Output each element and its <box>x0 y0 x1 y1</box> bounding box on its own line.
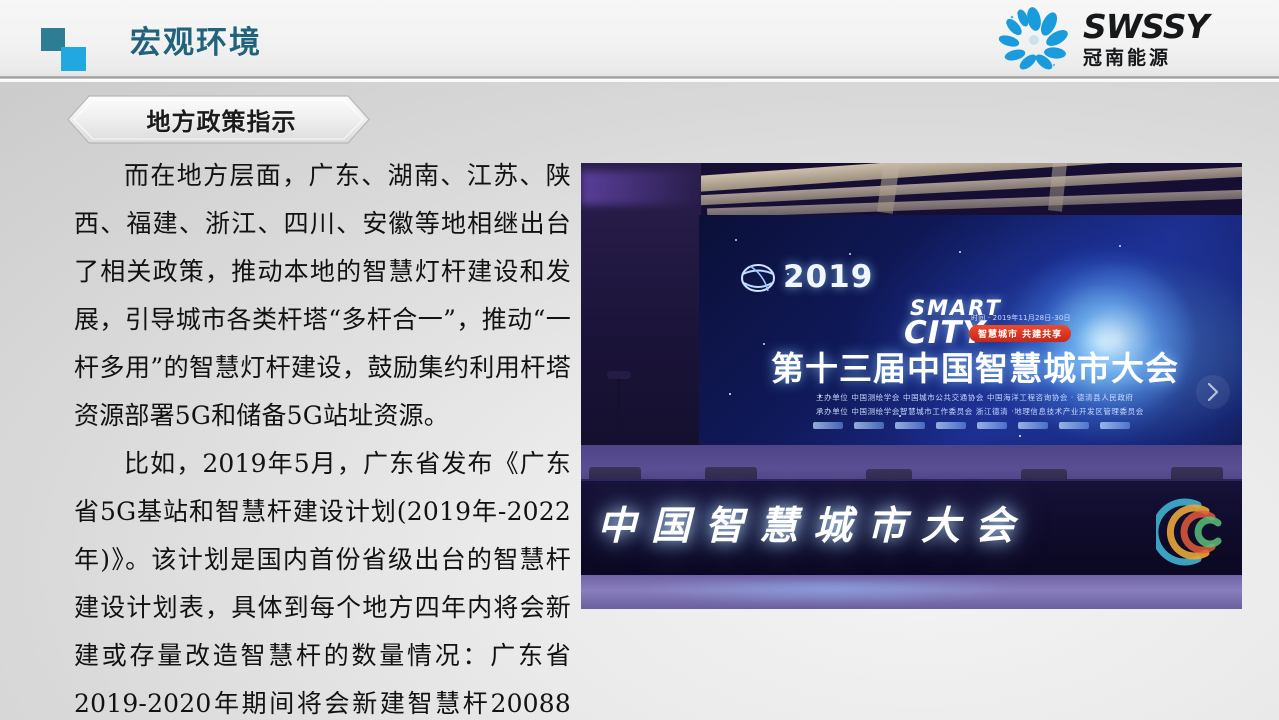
paragraph-2: 比如，2019年5月，广东省发布《广东省5G基站和智慧杆建设计划(2019年-2… <box>74 440 571 720</box>
brand-wordmark-group: SWSSY 冠南能源 <box>1083 10 1208 69</box>
led-year-text: 2019 <box>783 259 873 295</box>
decorative-squares <box>41 28 87 72</box>
led-main-title: 第十三届中国智慧城市大会 <box>771 342 1179 390</box>
led-date-text: 时间 · 2019年11月28日-30日 <box>971 313 1071 323</box>
conference-globe-icon <box>738 261 778 295</box>
brand-subtitle: 冠南能源 <box>1083 47 1208 69</box>
photo-canvas: 2019 SMART CITY 时间 · 2019年11月28日-30日 智慧城… <box>581 163 1242 609</box>
microphone-head-icon <box>607 371 631 379</box>
led-screen: 2019 SMART CITY 时间 · 2019年11月28日-30日 智慧城… <box>699 215 1242 471</box>
body-copy: 而在地方层面，广东、湖南、江苏、陕西、福建、浙江、四川、安徽等地相继出台了相关政… <box>74 152 571 720</box>
floor-reflection <box>621 581 1041 605</box>
page-title: 宏观环境 <box>130 22 262 64</box>
led-sponsor-logos <box>813 422 1130 429</box>
water-droplet-petals-icon <box>997 7 1071 73</box>
stage-front-text: 中国智慧城市大会 <box>597 495 1237 551</box>
header-divider-highlight <box>0 79 1279 82</box>
section-banner-label: 地方政策指示 <box>67 95 370 144</box>
chevron-right-icon[interactable] <box>1196 375 1230 409</box>
led-slogan-badge: 智慧城市 共建共享 <box>969 325 1071 342</box>
section-banner: 地方政策指示 <box>67 95 370 144</box>
conference-rings-logo-icon <box>1156 493 1236 571</box>
wall-light-beam <box>581 171 701 205</box>
brand-logo: SWSSY 冠南能源 <box>997 6 1259 74</box>
slide-root: 宏观环境 <box>0 0 1279 720</box>
stage-left-wall <box>581 163 701 463</box>
led-organizer-line-2: 承办单位 中国测绘学会智慧城市工作委员会 浙江德清 ·地理信息技术产业开发区管理… <box>816 406 1144 417</box>
paragraph-1: 而在地方层面，广东、湖南、江苏、陕西、福建、浙江、四川、安徽等地相继出台了相关政… <box>74 152 571 440</box>
microphone-stand <box>617 377 620 447</box>
brand-wordmark: SWSSY <box>1083 10 1208 44</box>
square-light-icon <box>61 47 86 71</box>
led-organizer-line-1: 主办单位 中国测绘学会 中国城市公共交通协会 中国海洋工程咨询协会 · 德清县人… <box>816 392 1134 403</box>
conference-stage-photo[interactable]: 2019 SMART CITY 时间 · 2019年11月28日-30日 智慧城… <box>581 163 1242 609</box>
